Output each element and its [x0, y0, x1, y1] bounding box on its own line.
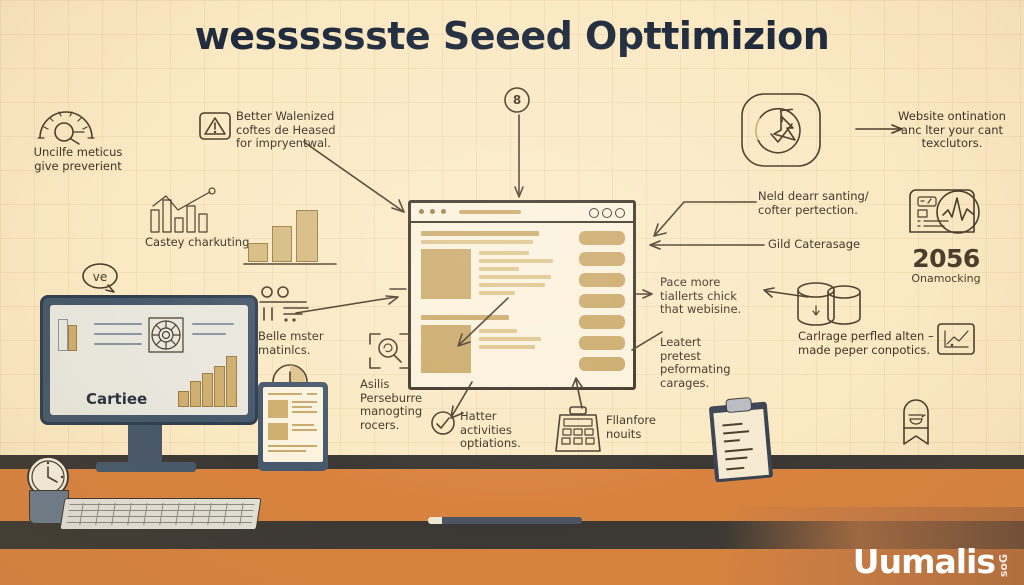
text-line [479, 283, 545, 287]
tablet-line [292, 424, 314, 426]
warning-note: Better Walenized coftes de Heased for im… [236, 110, 366, 151]
sidebar-item[interactable] [579, 231, 625, 245]
window-control-1[interactable] [589, 208, 599, 218]
monitor-stand-base [96, 462, 196, 472]
screen-line [94, 343, 142, 345]
monitor-stand-neck [128, 425, 162, 467]
clipboard-line [722, 423, 742, 427]
calculator-note: Fllanfore nouits [606, 414, 696, 441]
pace-note: Pace more tiallerts chick that webisine. [660, 276, 770, 317]
tablet-line [268, 450, 306, 452]
content-image-1 [421, 249, 471, 299]
clipboard-paper [713, 409, 769, 479]
heading-bar [421, 231, 539, 236]
clipboard-line [724, 439, 740, 442]
text-line [479, 275, 551, 279]
logo-suffix: soG [997, 554, 1010, 577]
sidebar-item[interactable] [579, 315, 625, 329]
keyboard[interactable] [59, 498, 261, 530]
tablet-image [268, 423, 288, 440]
window-dot-1 [419, 209, 424, 214]
ascending-bars-chart [248, 208, 320, 262]
monitor-screen: Cartiee [50, 305, 248, 415]
text-line [479, 291, 515, 295]
monitor-bar [202, 373, 213, 407]
screen-line [94, 333, 142, 335]
text-line [479, 259, 553, 263]
text-line [479, 345, 535, 349]
sidebar-item[interactable] [579, 294, 625, 308]
text-line [479, 329, 517, 333]
chart-label: Castey charkuting [145, 236, 265, 250]
pen[interactable] [432, 517, 582, 524]
monitor-screen-label: Cartiee [86, 390, 147, 408]
tablet-line [292, 429, 317, 431]
window-dot-3 [441, 209, 446, 214]
monitor-bar [226, 356, 237, 407]
sidebar-item[interactable] [579, 357, 625, 371]
content-image-2 [421, 325, 471, 373]
text-line [479, 267, 519, 271]
page-title: wesssssste Seeed Opttimizion [0, 14, 1024, 58]
subheading-bar [421, 240, 533, 244]
bar-3 [296, 210, 318, 262]
screen-line [94, 323, 142, 325]
bar-2 [272, 226, 292, 262]
clipboard-clamp [725, 397, 752, 413]
tablet-line [268, 393, 302, 395]
clipboard-line [725, 457, 747, 461]
browser-address-bar[interactable] [459, 210, 521, 214]
clipboard-checklist[interactable] [709, 402, 773, 483]
tablet-device[interactable] [258, 382, 328, 467]
tablet-line [292, 406, 312, 408]
tablet-line [292, 411, 317, 413]
check-note: Hatter activities optiations. [460, 410, 570, 451]
database-note: Carlrage perfled alten – made peper conp… [798, 330, 938, 357]
magnifier-note: Asilis Perseburre manogting rocers. [360, 378, 464, 432]
logo-text: Uumalis [853, 547, 995, 577]
text-line [479, 251, 529, 255]
bar-1 [248, 243, 268, 262]
browser-content [411, 223, 633, 391]
website-note: Website ontination anc lter your cant te… [886, 110, 1018, 151]
caterage-note: Gild Caterasage [768, 238, 908, 252]
metrics-note: Belle mster matinlcs. [258, 330, 368, 357]
sidebar-item[interactable] [579, 336, 625, 350]
infographic-canvas: wesssssste Seeed Opttimizion Uncilfe met… [0, 0, 1024, 585]
window-control-3[interactable] [615, 208, 625, 218]
leatert-note: Leatert pretest peformating carages. [660, 336, 770, 390]
santing-note: Neld dearr santing/ cofter pertection. [758, 190, 898, 217]
tablet-screen [263, 387, 323, 462]
sidebar-item[interactable] [579, 252, 625, 266]
tablet-line [268, 445, 317, 447]
browser-title-bar [411, 203, 633, 223]
pen-tip [428, 517, 442, 524]
tablet-image [268, 400, 288, 418]
monitor-bar [214, 366, 225, 407]
browser-main-column [421, 231, 557, 391]
heading-bar-2 [421, 315, 509, 320]
monitor-bar [190, 381, 201, 407]
screen-line [192, 333, 226, 335]
tablet-line [307, 393, 317, 395]
text-line [479, 337, 541, 341]
tablet-base [258, 462, 328, 471]
tablet-line [292, 401, 317, 403]
browser-window-mockup[interactable] [408, 200, 636, 390]
window-control-2[interactable] [602, 208, 612, 218]
browser-sidebar [579, 231, 625, 378]
brand-logo[interactable]: Uumalis soG [853, 547, 1010, 577]
stat-value: 2056 [898, 244, 994, 273]
clipboard-line [723, 430, 749, 434]
monitor-bar [178, 391, 189, 407]
gauge-note: Uncilfe meticus give preverient [8, 146, 148, 173]
stat-label: Onamocking [894, 272, 998, 285]
clipboard-line [726, 467, 744, 471]
sidebar-item[interactable] [579, 273, 625, 287]
hub-badge-label: 8 [502, 85, 532, 115]
screen-fan-icon [148, 317, 184, 353]
clipboard-line [725, 448, 753, 452]
desktop-monitor[interactable]: Cartiee [40, 295, 258, 425]
screen-line [192, 323, 234, 325]
window-dot-2 [430, 209, 435, 214]
